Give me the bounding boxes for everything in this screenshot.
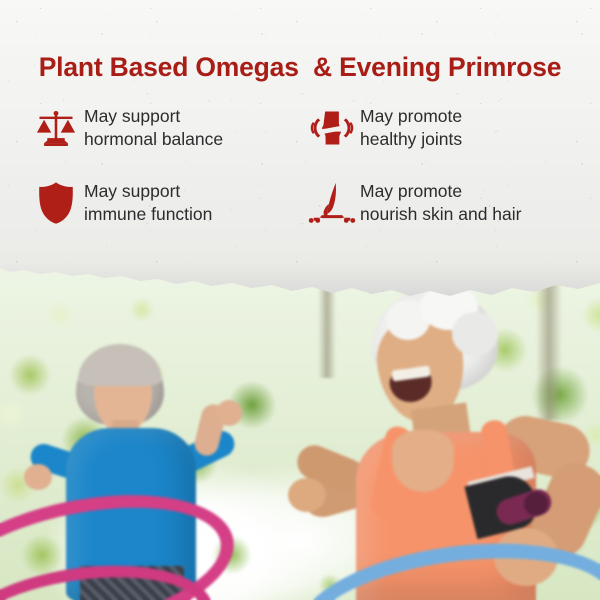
benefit-item-skin-and-hair: May promote nourish skin and hair (304, 179, 580, 226)
woman-blue-hand-right (216, 400, 242, 426)
benefit-text: May support hormonal balance (84, 104, 223, 151)
woman-orange-neckline (392, 430, 454, 492)
product-benefits-poster: Plant Based Omegas & Evening Primrose (0, 0, 600, 600)
benefit-line-1: May support (84, 181, 180, 201)
woman-orange-hand-left (288, 478, 326, 512)
benefit-line-1: May support (84, 106, 180, 126)
woman-orange-hair-curl (452, 312, 498, 356)
benefit-item-healthy-joints: May promote healthy joints (304, 104, 580, 151)
hair-follicle-icon (304, 179, 360, 223)
benefit-line-1: May promote (360, 181, 462, 201)
benefit-line-2: immune function (84, 203, 212, 226)
photo-tree-trunk (536, 270, 562, 420)
benefit-text: May support immune function (84, 179, 212, 226)
benefit-text: May promote nourish skin and hair (360, 179, 521, 226)
shield-icon (28, 179, 84, 225)
benefits-row: May support immune function (28, 179, 580, 226)
benefits-grid: May support hormonal balance (28, 104, 580, 254)
benefits-row: May support hormonal balance (28, 104, 580, 151)
balance-scale-icon (28, 104, 84, 150)
woman-blue-hand-left (24, 464, 52, 490)
benefit-line-2: healthy joints (360, 128, 462, 151)
woman-orange-watch-face (524, 492, 548, 516)
benefit-line-2: hormonal balance (84, 128, 223, 151)
benefit-text: May promote healthy joints (360, 104, 462, 151)
benefit-line-2: nourish skin and hair (360, 203, 521, 226)
benefit-item-hormonal-balance: May support hormonal balance (28, 104, 304, 151)
benefit-line-1: May promote (360, 106, 462, 126)
page-title: Plant Based Omegas & Evening Primrose (0, 52, 600, 83)
benefit-item-immune-function: May support immune function (28, 179, 304, 226)
bone-joint-icon (304, 104, 360, 150)
